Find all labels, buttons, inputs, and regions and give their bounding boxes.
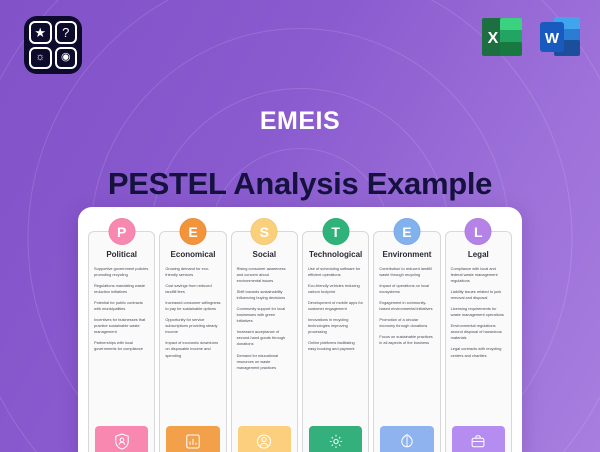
pestel-column-environment[interactable]: E Environment Contribution to reduced la… [373, 231, 440, 452]
column-title-economical: Economical [165, 250, 220, 259]
list-item: Supportive government policies promoting… [94, 266, 149, 278]
person-icon [238, 426, 291, 452]
list-item: Contribution to reduced landfill waste t… [379, 266, 434, 278]
column-title-technological: Technological [308, 250, 363, 259]
column-title-legal: Legal [451, 250, 506, 259]
list-item: Promotion of a circular economy through … [379, 317, 434, 329]
list-item: Partnerships with local governments for … [94, 340, 149, 352]
column-items: Use of scheduling software for efficient… [308, 266, 363, 423]
list-item: Regulations mandating waste reduction in… [94, 283, 149, 295]
list-item: Innovations in recycling technologies im… [308, 317, 363, 335]
excel-icon[interactable]: X [482, 14, 528, 64]
pestel-column-social[interactable]: S Social Rising consumer awareness and c… [231, 231, 298, 452]
letter-badge-p: P [108, 218, 135, 245]
column-title-political: Political [94, 250, 149, 259]
dog-face-icon: ◉ [55, 47, 78, 70]
list-item: Shift towards sustainability influencing… [237, 289, 292, 301]
list-item: Incentives for businesses that practice … [94, 317, 149, 335]
column-items: Growing demand for eco-friendly services… [165, 266, 220, 423]
svg-text:X: X [488, 30, 499, 47]
pestel-column-technological[interactable]: T Technological Use of scheduling softwa… [302, 231, 369, 452]
briefcase-icon [452, 426, 505, 452]
list-item: Potential for public contracts with muni… [94, 300, 149, 312]
letter-badge-e2: E [393, 218, 420, 245]
svg-text:W: W [545, 30, 560, 47]
list-item: Compliance with local and federal waste … [451, 266, 506, 284]
column-title-social: Social [237, 250, 292, 259]
list-item: Increased acceptance of second-hand good… [237, 329, 292, 347]
word-icon[interactable]: W [538, 14, 584, 64]
list-item: Focus on sustainable practices in all as… [379, 334, 434, 346]
letter-badge-l: L [465, 218, 492, 245]
list-item: Online platforms facilitating easy booki… [308, 340, 363, 352]
letter-badge-s: S [251, 218, 278, 245]
shield-person-icon [95, 426, 148, 452]
pestel-board: P Political Supportive government polici… [78, 207, 522, 452]
cow-face-icon: ☼ [29, 47, 52, 70]
list-item: Liability issues related to junk removal… [451, 289, 506, 301]
pestel-column-economical[interactable]: E Economical Growing demand for eco-frie… [159, 231, 226, 452]
list-item: Growing demand for eco-friendly services [165, 266, 220, 278]
list-item: Licensing requirements for waste managem… [451, 306, 506, 318]
bar-chart-icon [166, 426, 219, 452]
list-item: Legal contracts with recycling centers a… [451, 346, 506, 358]
gear-icon [309, 426, 362, 452]
list-item: Impact of economic downturns on disposab… [165, 340, 220, 358]
column-title-environment: Environment [379, 250, 434, 259]
column-items: Rising consumer awareness and concern ab… [237, 266, 292, 423]
pestel-column-political[interactable]: P Political Supportive government polici… [88, 231, 155, 452]
brand-title: EMEIS [0, 107, 600, 136]
list-item: Environmental regulations around disposa… [451, 323, 506, 341]
question-mark-icon: ? [55, 21, 78, 44]
list-item: Engagement in community-based environmen… [379, 300, 434, 312]
leaf-icon [380, 426, 433, 452]
page-title: PESTEL Analysis Example [0, 166, 600, 202]
letter-badge-e1: E [179, 218, 206, 245]
letter-badge-t: T [322, 218, 349, 245]
list-item: Community support for local businesses w… [237, 306, 292, 324]
column-items: Compliance with local and federal waste … [451, 266, 506, 423]
list-item: Use of scheduling software for efficient… [308, 266, 363, 278]
column-items: Supportive government policies promoting… [94, 266, 149, 423]
pestel-column-legal[interactable]: L Legal Compliance with local and federa… [445, 231, 512, 452]
list-item: Cost savings from reduced landfill fees [165, 283, 220, 295]
slide-root: ★ ? ☼ ◉ X W EMEIS PESTEL Analysis Exampl… [0, 0, 600, 452]
list-item: Impact of operations on local ecosystems [379, 283, 434, 295]
list-item: Development of mobile apps for customer … [308, 300, 363, 312]
app-logo[interactable]: ★ ? ☼ ◉ [24, 16, 82, 74]
star-icon: ★ [29, 21, 52, 44]
list-item: Demand for educational resources on wast… [237, 353, 292, 371]
list-item: Rising consumer awareness and concern ab… [237, 266, 292, 284]
column-items: Contribution to reduced landfill waste t… [379, 266, 434, 423]
list-item: Opportunity for service subscriptions pr… [165, 317, 220, 335]
list-item: Eco-friendly vehicles reducing carbon fo… [308, 283, 363, 295]
list-item: Increased consumer willingness to pay fo… [165, 300, 220, 312]
